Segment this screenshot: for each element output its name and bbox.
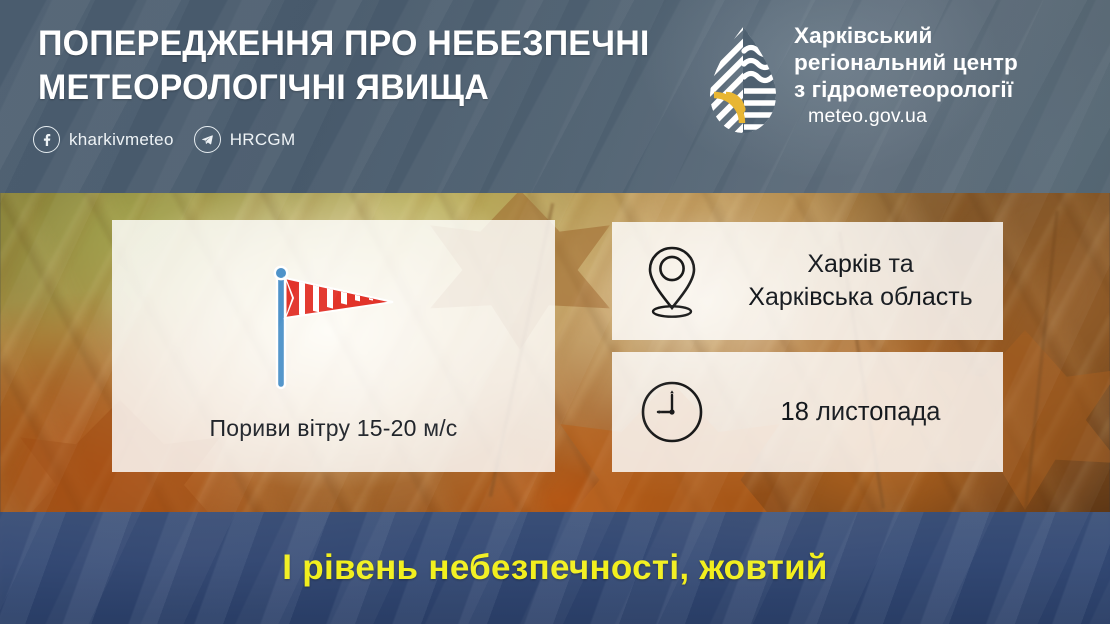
telegram-icon bbox=[194, 126, 221, 153]
social-link-facebook[interactable]: kharkivmeteo bbox=[33, 126, 174, 153]
organization-logo: Харківський регіональний центр з гідроме… bbox=[706, 22, 1018, 137]
social-link-telegram[interactable]: HRCGM bbox=[194, 126, 296, 153]
clock-icon bbox=[612, 379, 732, 445]
location-line-1: Харків та bbox=[732, 248, 989, 281]
windsock-icon bbox=[112, 256, 555, 396]
map-pin-icon bbox=[612, 242, 732, 320]
logo-website-url[interactable]: meteo.gov.ua bbox=[794, 104, 1018, 129]
hydrometeorology-droplet-logo bbox=[706, 25, 780, 137]
date-card: 18 листопада bbox=[612, 352, 1003, 472]
logo-line-1: Харківський bbox=[794, 22, 1018, 49]
danger-level-text: І рівень небезпечності, жовтий bbox=[0, 548, 1110, 588]
social-links: kharkivmeteo HRCGM bbox=[33, 126, 295, 153]
facebook-icon bbox=[33, 126, 60, 153]
page-title: ПОПЕРЕДЖЕННЯ ПРО НЕБЕЗПЕЧНІ МЕТЕОРОЛОГІЧ… bbox=[38, 22, 698, 110]
location-text: Харків та Харківська область bbox=[732, 248, 1003, 314]
page-title-line-2: МЕТЕОРОЛОГІЧНІ ЯВИЩА bbox=[38, 66, 698, 110]
social-label-facebook: kharkivmeteo bbox=[69, 130, 174, 150]
logo-line-2: регіональний центр bbox=[794, 49, 1018, 76]
social-label-telegram: HRCGM bbox=[230, 130, 296, 150]
location-card: Харків та Харківська область bbox=[612, 222, 1003, 340]
logo-text: Харківський регіональний центр з гідроме… bbox=[794, 22, 1018, 129]
danger-level-band: І рівень небезпечності, жовтий bbox=[0, 512, 1110, 624]
page-title-line-1: ПОПЕРЕДЖЕННЯ ПРО НЕБЕЗПЕЧНІ bbox=[38, 22, 698, 66]
logo-line-3: з гідрометеорології bbox=[794, 76, 1018, 103]
weather-warning-poster: ПОПЕРЕДЖЕННЯ ПРО НЕБЕЗПЕЧНІ МЕТЕОРОЛОГІЧ… bbox=[0, 0, 1110, 624]
wind-label: Пориви вітру 15-20 м/с bbox=[112, 415, 555, 442]
location-line-2: Харківська область bbox=[732, 281, 989, 314]
date-text: 18 листопада bbox=[732, 396, 1003, 429]
wind-warning-card: Пориви вітру 15-20 м/с bbox=[112, 220, 555, 472]
